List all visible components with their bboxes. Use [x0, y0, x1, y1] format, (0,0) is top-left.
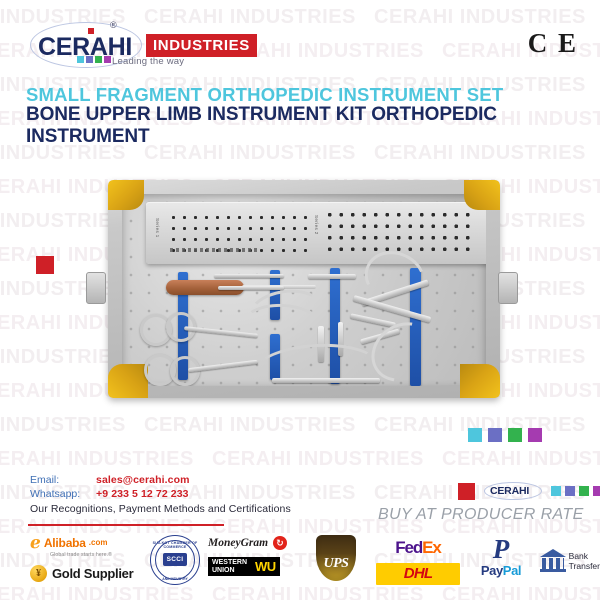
gold-supplier-icon: ¥	[30, 565, 47, 582]
tray-basin: Series 1 Series 2	[122, 194, 486, 386]
gold-corner-top-left	[108, 180, 144, 210]
bank-transfer-line2: Transfer	[569, 561, 600, 571]
logo-swatch-1	[77, 56, 84, 63]
brand-swatch-small-4	[593, 486, 600, 496]
brand-red-square	[458, 483, 475, 500]
dhl-name: DHL	[404, 565, 432, 582]
plate-hole-grid-right	[324, 209, 474, 257]
tray-handle-left	[86, 272, 106, 304]
western-union-logo: WESTERN UNION WU	[208, 557, 304, 576]
plate-marking-left: Series 1	[155, 218, 160, 238]
alibaba-swirl-icon: ℯ	[30, 534, 41, 551]
brand-mini-text: CERAHI	[490, 485, 529, 497]
bone-holder-shank	[272, 378, 380, 383]
ups-logo[interactable]: UPS	[316, 535, 362, 585]
paypal-mark-icon: P	[468, 536, 534, 562]
moneygram-westernunion-group[interactable]: MoneyGram ↻ WESTERN UNION WU	[208, 536, 304, 586]
forceps-shank-1	[214, 274, 284, 278]
email-row: Email: sales@cerahi.com	[30, 474, 291, 486]
plate-label-strip	[170, 248, 260, 252]
seal-center-text: SCCI	[163, 553, 187, 566]
brand-swatch-top-3	[508, 428, 522, 442]
gold-supplier-badge: ¥ Gold Supplier	[30, 565, 138, 582]
header: ® CERAHI INDUSTRIES Leading the way C E	[0, 0, 600, 78]
bank-roof-icon	[540, 549, 566, 557]
elevator-shank	[308, 274, 356, 279]
brand-mini-logo: CERAHI	[484, 481, 542, 501]
fedex-dhl-group[interactable]: FedEx DHL	[376, 538, 460, 584]
moneygram-globe-icon: ↻	[273, 536, 287, 550]
ce-mark-icon: C E	[528, 28, 578, 59]
bank-transfer-line1: Bank	[569, 551, 588, 561]
logo-swatch-2	[86, 56, 93, 63]
product-title-primary: SMALL FRAGMENT ORTHOPEDIC INSTRUMENT SET	[26, 84, 503, 106]
logo-subbrand-text: INDUSTRIES	[146, 34, 257, 57]
gold-corner-bottom-right	[460, 364, 500, 398]
gold-corner-top-right	[464, 180, 500, 210]
forceps-shank-2	[218, 286, 284, 290]
paypal-part1: Pay	[481, 563, 503, 578]
email-value[interactable]: sales@cerahi.com	[96, 474, 190, 486]
whatsapp-row: Whatsapp: +9 233 5 12 72 233	[30, 488, 291, 500]
brand-swatch-top-2	[488, 428, 502, 442]
paypal-logo[interactable]: P PayPal	[468, 536, 534, 586]
western-union-wordmark: WESTERN UNION	[208, 557, 251, 576]
whatsapp-value[interactable]: +9 233 5 12 72 233	[96, 488, 189, 500]
bank-transfer-logo[interactable]: Bank Transfer	[540, 540, 600, 582]
gold-supplier-label: Gold Supplier	[52, 566, 133, 581]
bank-icon	[540, 549, 564, 573]
brand-logo[interactable]: ® CERAHI INDUSTRIES Leading the way	[22, 20, 322, 72]
alibaba-logo[interactable]: ℯ Alibaba .com Global trade starts here.…	[30, 534, 138, 586]
product-image: Series 1 Series 2	[86, 168, 518, 408]
moneygram-name: MoneyGram	[208, 537, 268, 549]
bank-transfer-label: Bank Transfer	[569, 551, 600, 571]
western-union-mark: WU	[251, 557, 280, 576]
product-title-secondary: BONE UPPER LIMB INSTRUMENT KIT ORTHOPEDI…	[26, 104, 600, 148]
brand-strip: CERAHI	[458, 481, 600, 501]
western-union-line2: UNION	[212, 567, 247, 575]
sterilization-tray: Series 1 Series 2	[108, 180, 500, 398]
brand-swatch-top-1	[468, 428, 482, 442]
recognitions-note: Our Recognitions, Payment Methods and Ce…	[30, 503, 291, 515]
brand-swatches-small	[551, 486, 600, 496]
brand-swatch-small-3	[579, 486, 589, 496]
paypal-wordmark: PayPal	[468, 563, 534, 578]
watermark-row: CERAHI INDUSTRIES CERAHI INDUSTRIES CERA…	[0, 442, 600, 476]
product-banner: CERAHI INDUSTRIES CERAHI INDUSTRIES CERA…	[0, 0, 600, 600]
email-label: Email:	[30, 474, 96, 486]
alibaba-name: Alibaba	[44, 536, 86, 550]
instrument-plate: Series 1 Series 2	[146, 202, 486, 264]
fedex-logo: FedEx	[376, 538, 460, 558]
paypal-part2: Pal	[503, 563, 521, 578]
fedex-part2: Ex	[422, 538, 441, 557]
seal-bottom-text: AND INDUSTRY	[150, 577, 200, 581]
alibaba-wordmark: ℯ Alibaba .com	[30, 534, 138, 551]
tray-handle-right	[498, 272, 518, 304]
brand-swatch-top-4	[528, 428, 542, 442]
moneygram-logo: MoneyGram ↻	[208, 536, 304, 550]
dhl-logo: DHL	[376, 563, 460, 585]
partner-logo-strip: ℯ Alibaba .com Global trade starts here.…	[0, 532, 600, 594]
logo-tagline: Leading the way	[112, 56, 184, 67]
buy-rate-tagline: BUY AT PRODUCER RATE	[378, 506, 584, 524]
contact-block: Email: sales@cerahi.com Whatsapp: +9 233…	[30, 474, 291, 515]
whatsapp-label: Whatsapp:	[30, 488, 96, 500]
logo-swatch-3	[95, 56, 102, 63]
red-divider	[28, 524, 224, 526]
ups-shield-icon: UPS	[316, 535, 356, 581]
ups-name: UPS	[324, 556, 349, 572]
chamber-of-commerce-seal[interactable]: SIALKOT CHAMBER OF COMMERCE SCCI AND IND…	[150, 535, 200, 585]
brand-swatch-small-2	[565, 486, 575, 496]
brand-swatch-small-1	[551, 486, 561, 496]
brand-swatches-top	[468, 428, 542, 442]
logo-swatch-4	[104, 56, 111, 63]
bank-base-icon	[540, 569, 566, 572]
seal-top-text: SIALKOT CHAMBER OF COMMERCE	[150, 541, 200, 549]
gold-corner-bottom-left	[108, 364, 148, 398]
alibaba-domain: .com	[89, 538, 108, 547]
bank-columns-icon	[542, 558, 564, 569]
western-union-line1: WESTERN	[212, 559, 247, 567]
registered-mark: ®	[110, 20, 117, 30]
fedex-part1: Fed	[395, 538, 422, 557]
accent-square	[36, 256, 54, 274]
alibaba-subtitle: Global trade starts here.®	[50, 552, 138, 558]
plate-marking-mid: Series 2	[314, 215, 319, 235]
